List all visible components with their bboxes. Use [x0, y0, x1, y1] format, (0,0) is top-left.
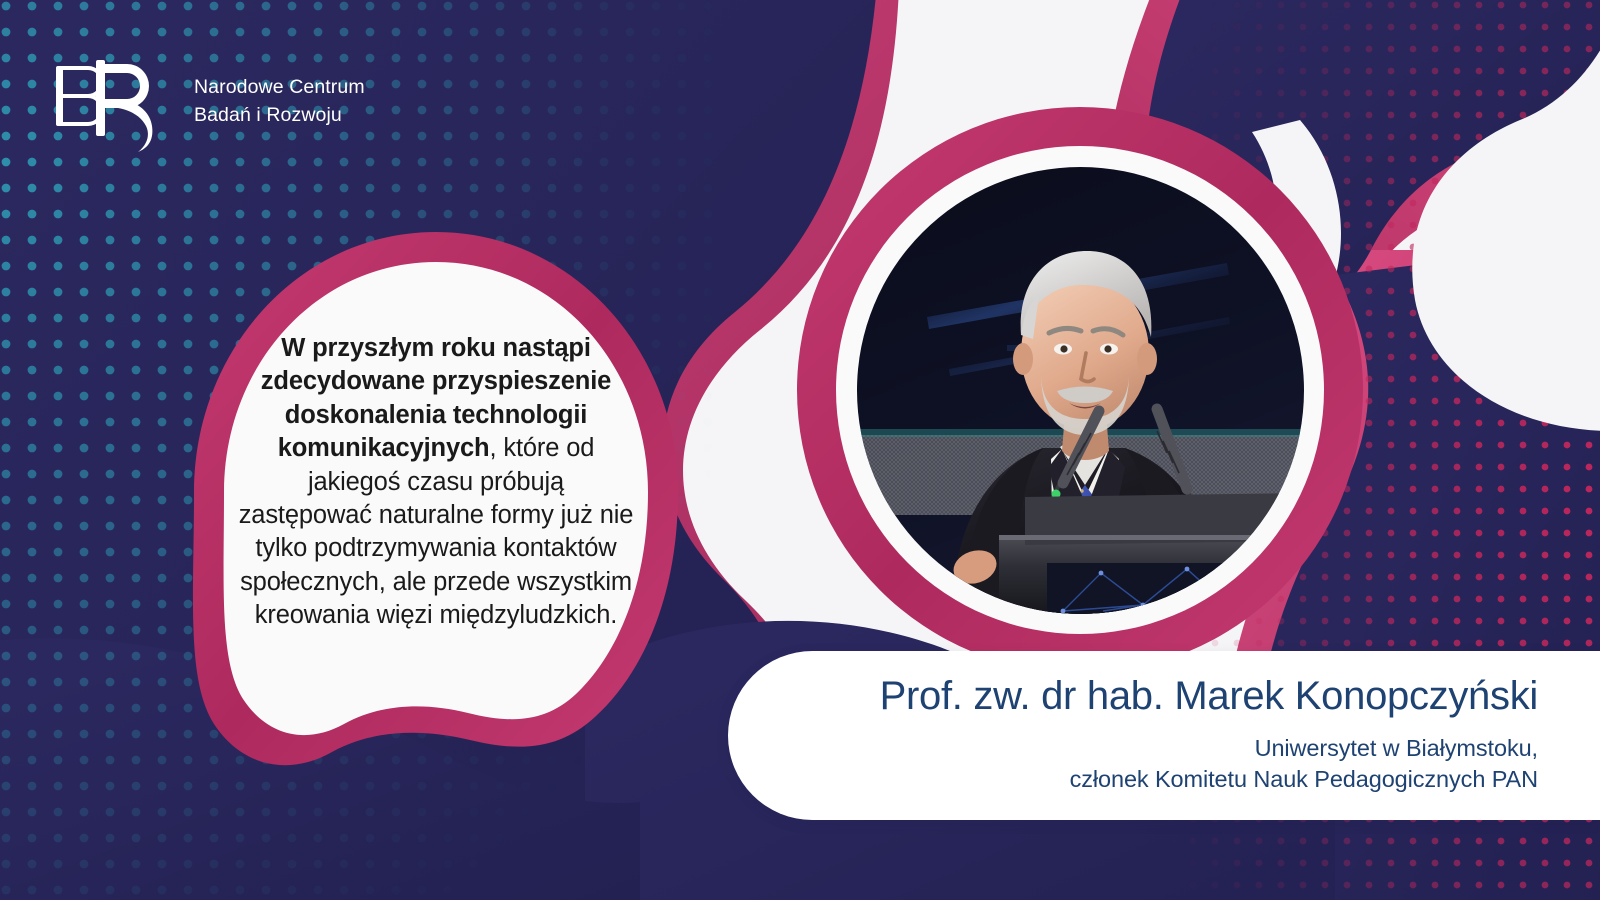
quote-text: W przyszłym roku nastąpi zdecydowane prz… [238, 332, 634, 633]
speaker-portrait [857, 167, 1304, 614]
speaker-affiliation: Uniwersytet w Białymstoku, członek Komit… [1070, 733, 1538, 795]
speaker-name: Prof. zw. dr hab. Marek Konopczyński [880, 673, 1538, 719]
speaker-info-card: Prof. zw. dr hab. Marek Konopczyński Uni… [728, 651, 1600, 820]
ncbr-br-monogram-icon [52, 52, 180, 152]
quote-card-canvas: Narodowe Centrum Badań i Rozwoju W przys… [0, 0, 1600, 900]
ncbr-logo: Narodowe Centrum Badań i Rozwoju [52, 52, 365, 152]
speaker-portrait-illustration [857, 167, 1304, 614]
quote-rest-segment: , które od jakiegoś czasu próbują zastęp… [239, 434, 634, 629]
ncbr-logo-text: Narodowe Centrum Badań i Rozwoju [194, 74, 365, 129]
